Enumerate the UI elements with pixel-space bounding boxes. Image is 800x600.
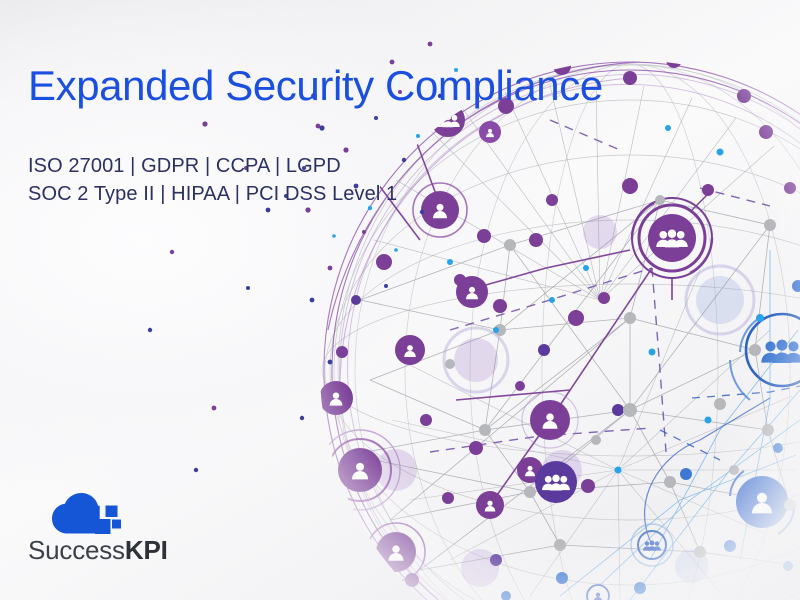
cloud-squares-icon xyxy=(50,490,128,536)
brand-logo: SuccessKPI xyxy=(28,490,228,563)
brand-wordmark: SuccessKPI xyxy=(28,537,228,563)
brand-name-bold: KPI xyxy=(125,535,168,565)
page-title: Expanded Security Compliance xyxy=(28,62,603,109)
slide-canvas: Expanded Security Compliance ISO 27001 |… xyxy=(0,0,800,600)
compliance-line-1: ISO 27001 | GDPR | CCPA | LGPD xyxy=(28,152,397,180)
compliance-standards-list: ISO 27001 | GDPR | CCPA | LGPD SOC 2 Typ… xyxy=(28,152,397,208)
compliance-line-2: SOC 2 Type II | HIPAA | PCI DSS Level 1 xyxy=(28,180,397,208)
brand-name-regular: Success xyxy=(28,535,125,565)
